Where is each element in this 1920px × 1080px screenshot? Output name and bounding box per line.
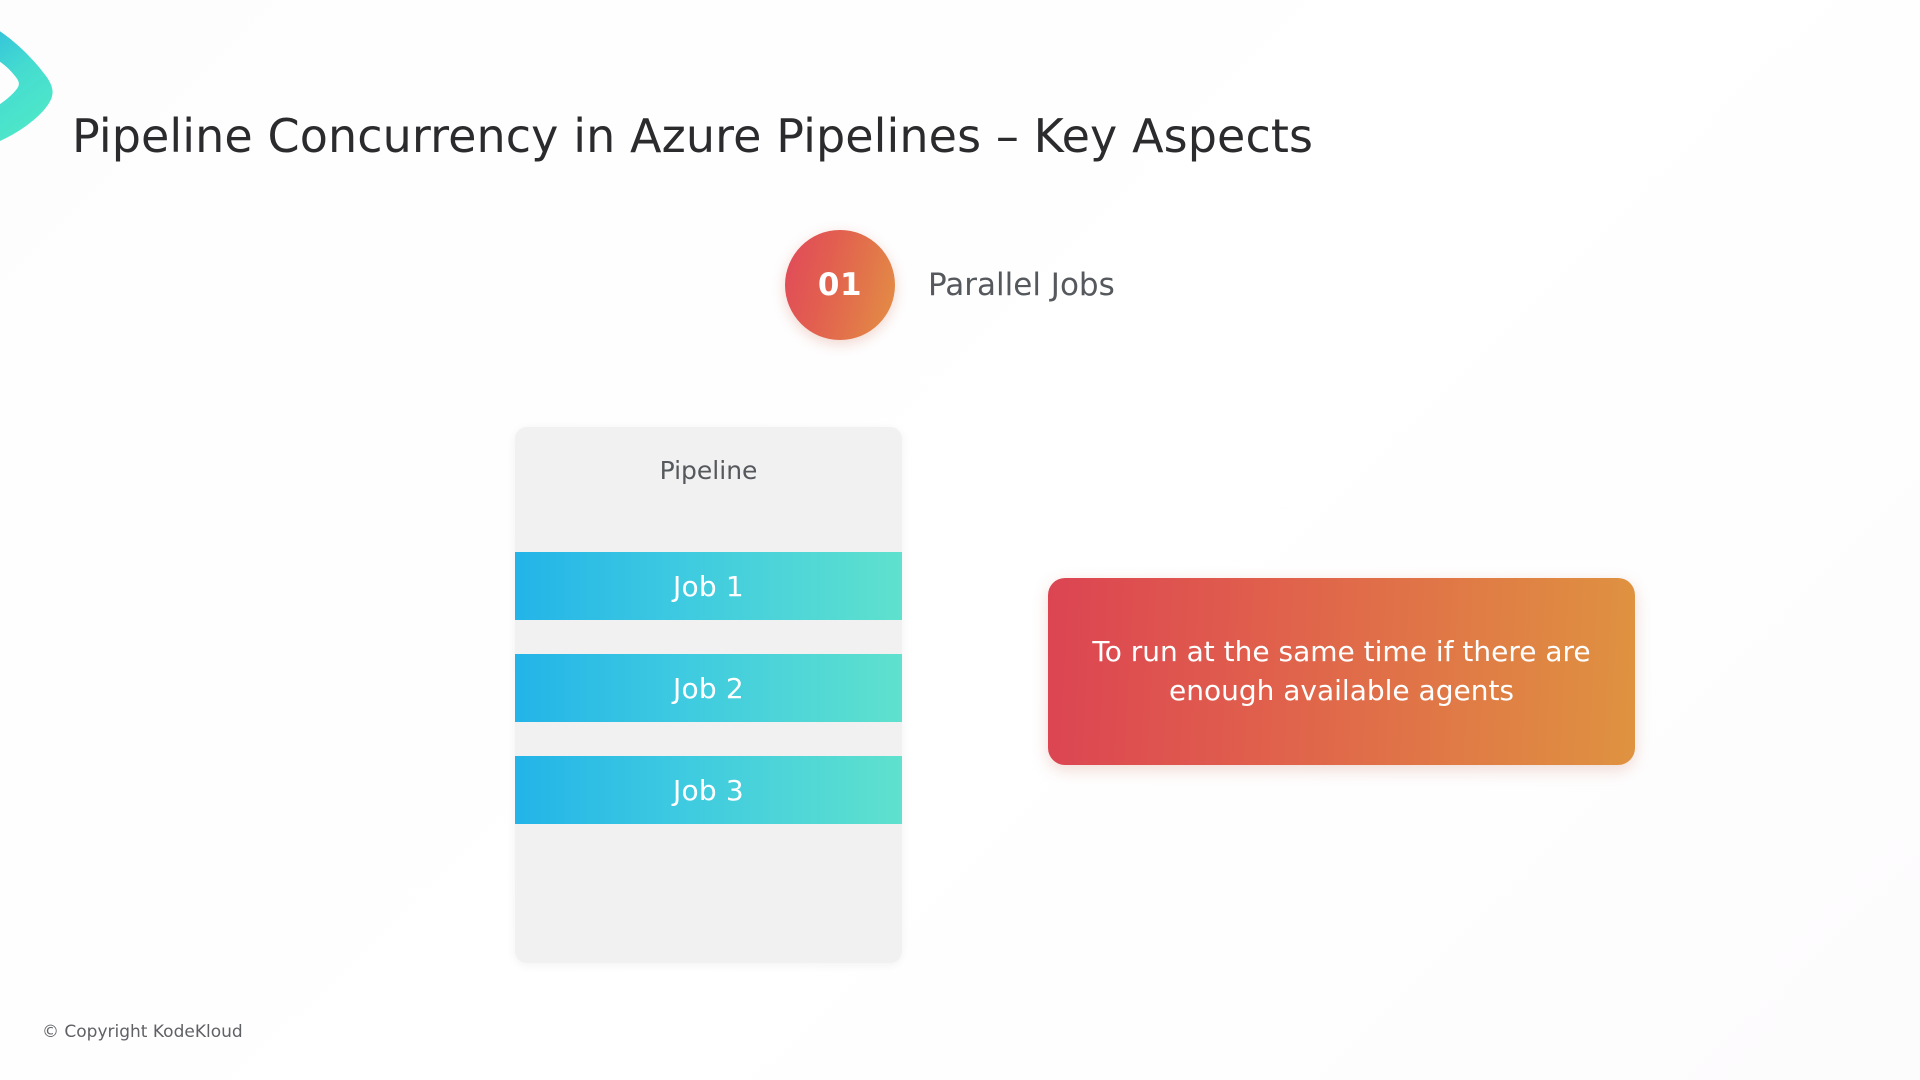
job-stack: Job 1 Job 2 Job 3 bbox=[515, 552, 902, 858]
aspect-number: 01 bbox=[818, 267, 862, 303]
job-bar-label: Job 3 bbox=[673, 774, 744, 807]
chevron-right-logo-icon bbox=[0, 14, 64, 152]
job-bar-label: Job 2 bbox=[673, 672, 744, 705]
aspect-number-badge: 01 bbox=[785, 230, 895, 340]
page-title: Pipeline Concurrency in Azure Pipelines … bbox=[72, 109, 1313, 163]
job-bar: Job 2 bbox=[515, 654, 902, 722]
brand-logo bbox=[0, 14, 64, 152]
footer-copyright: © Copyright KodeKloud bbox=[42, 1022, 243, 1042]
aspect-badge-row: 01 Parallel Jobs bbox=[785, 230, 1115, 340]
callout-box: To run at the same time if there are eno… bbox=[1048, 578, 1635, 765]
aspect-label: Parallel Jobs bbox=[928, 267, 1115, 303]
pipeline-card: Pipeline Job 1 Job 2 Job 3 bbox=[515, 427, 902, 963]
job-bar: Job 3 bbox=[515, 756, 902, 824]
slide-canvas: Pipeline Concurrency in Azure Pipelines … bbox=[0, 0, 1920, 1080]
pipeline-card-title: Pipeline bbox=[515, 456, 902, 485]
job-bar: Job 1 bbox=[515, 552, 902, 620]
job-bar-label: Job 1 bbox=[673, 570, 744, 603]
callout-text: To run at the same time if there are eno… bbox=[1084, 633, 1599, 710]
